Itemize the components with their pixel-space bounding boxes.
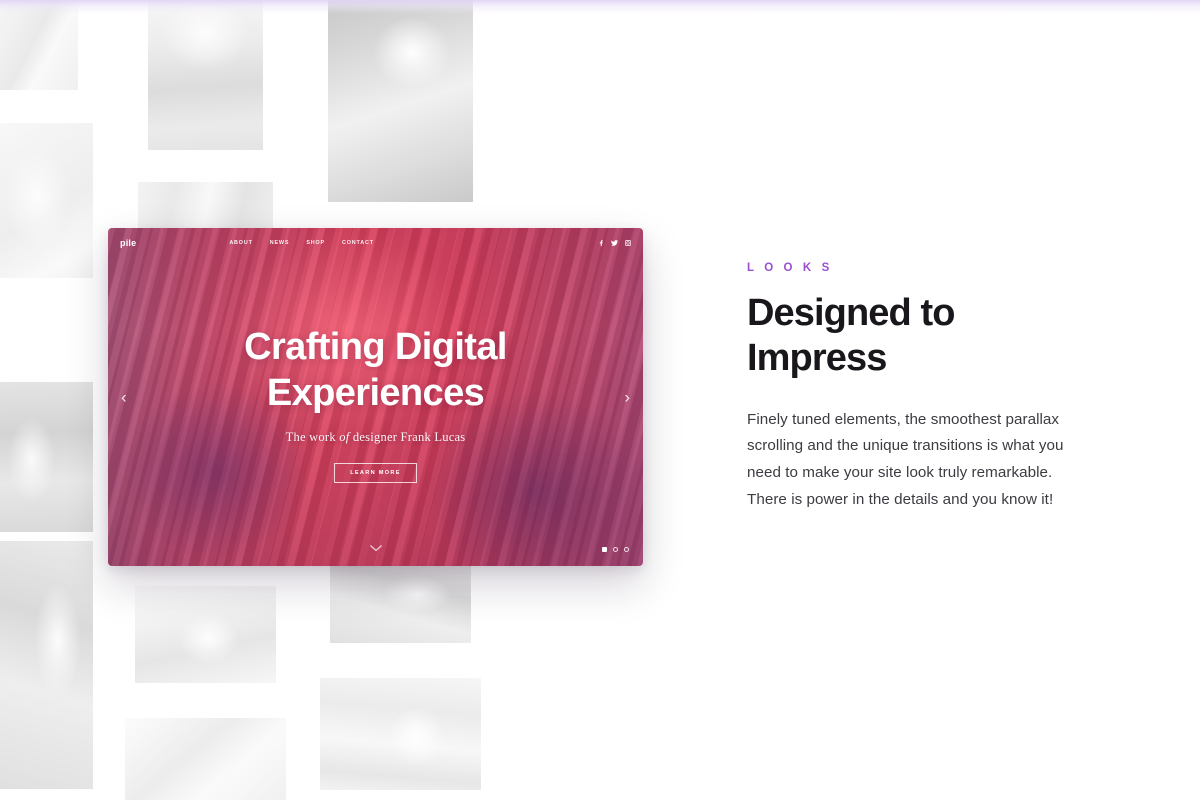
feature-copy-block: L O O K S Designed to Impress Finely tun… xyxy=(747,262,1092,514)
learn-more-button[interactable]: LEARN MORE xyxy=(334,463,417,483)
background-thumbnail xyxy=(0,382,93,532)
slider-pagination xyxy=(602,547,629,552)
background-thumbnail xyxy=(0,123,93,278)
slider-dot-1[interactable] xyxy=(602,547,607,552)
background-thumbnail xyxy=(0,0,78,90)
page-root: pile ABOUT NEWS SHOP CONTACT xyxy=(0,0,1200,800)
hero-headline-line1: Crafting Digital xyxy=(244,325,507,371)
hero-headline-line2: Experiences xyxy=(244,371,507,417)
background-thumbnail xyxy=(320,678,481,790)
feature-description: Finely tuned elements, the smoothest par… xyxy=(747,407,1092,514)
hero-subtitle-em: of xyxy=(339,430,349,444)
background-thumbnail xyxy=(0,541,93,789)
thumbnail-image xyxy=(0,541,93,789)
background-thumbnail xyxy=(328,0,473,202)
thumbnail-image xyxy=(135,586,276,683)
hero-subtitle-post: designer Frank Lucas xyxy=(349,430,465,444)
thumbnail-image xyxy=(320,678,481,790)
background-thumbnail xyxy=(125,718,286,800)
thumbnail-image xyxy=(0,382,93,532)
hero-subtitle: The work of designer Frank Lucas xyxy=(286,430,466,445)
thumbnail-image xyxy=(330,562,471,643)
background-thumbnail xyxy=(148,0,263,150)
section-eyebrow: L O O K S xyxy=(747,262,1092,274)
background-thumbnail xyxy=(330,562,471,643)
thumbnail-image xyxy=(328,0,473,202)
hero-subtitle-pre: The work xyxy=(286,430,340,444)
thumbnail-image xyxy=(148,0,263,150)
scroll-down-chevron-icon[interactable] xyxy=(369,539,382,557)
slider-dot-3[interactable] xyxy=(624,547,629,552)
thumbnail-image xyxy=(0,123,93,278)
hero-headline: Crafting Digital Experiences xyxy=(244,325,507,416)
slider-dot-2[interactable] xyxy=(613,547,618,552)
background-thumbnail xyxy=(135,586,276,683)
page-title-line2: Impress xyxy=(747,337,886,379)
thumbnail-image xyxy=(0,0,78,90)
slider-next-arrow[interactable]: › xyxy=(624,389,630,406)
hero-slider-card[interactable]: pile ABOUT NEWS SHOP CONTACT xyxy=(108,228,643,566)
thumbnail-image xyxy=(125,718,286,800)
hero-content: Crafting Digital Experiences The work of… xyxy=(108,228,643,566)
page-title-line1: Designed to xyxy=(747,292,955,334)
slider-prev-arrow[interactable]: ‹ xyxy=(121,389,127,406)
page-title: Designed to Impress xyxy=(747,291,1092,381)
